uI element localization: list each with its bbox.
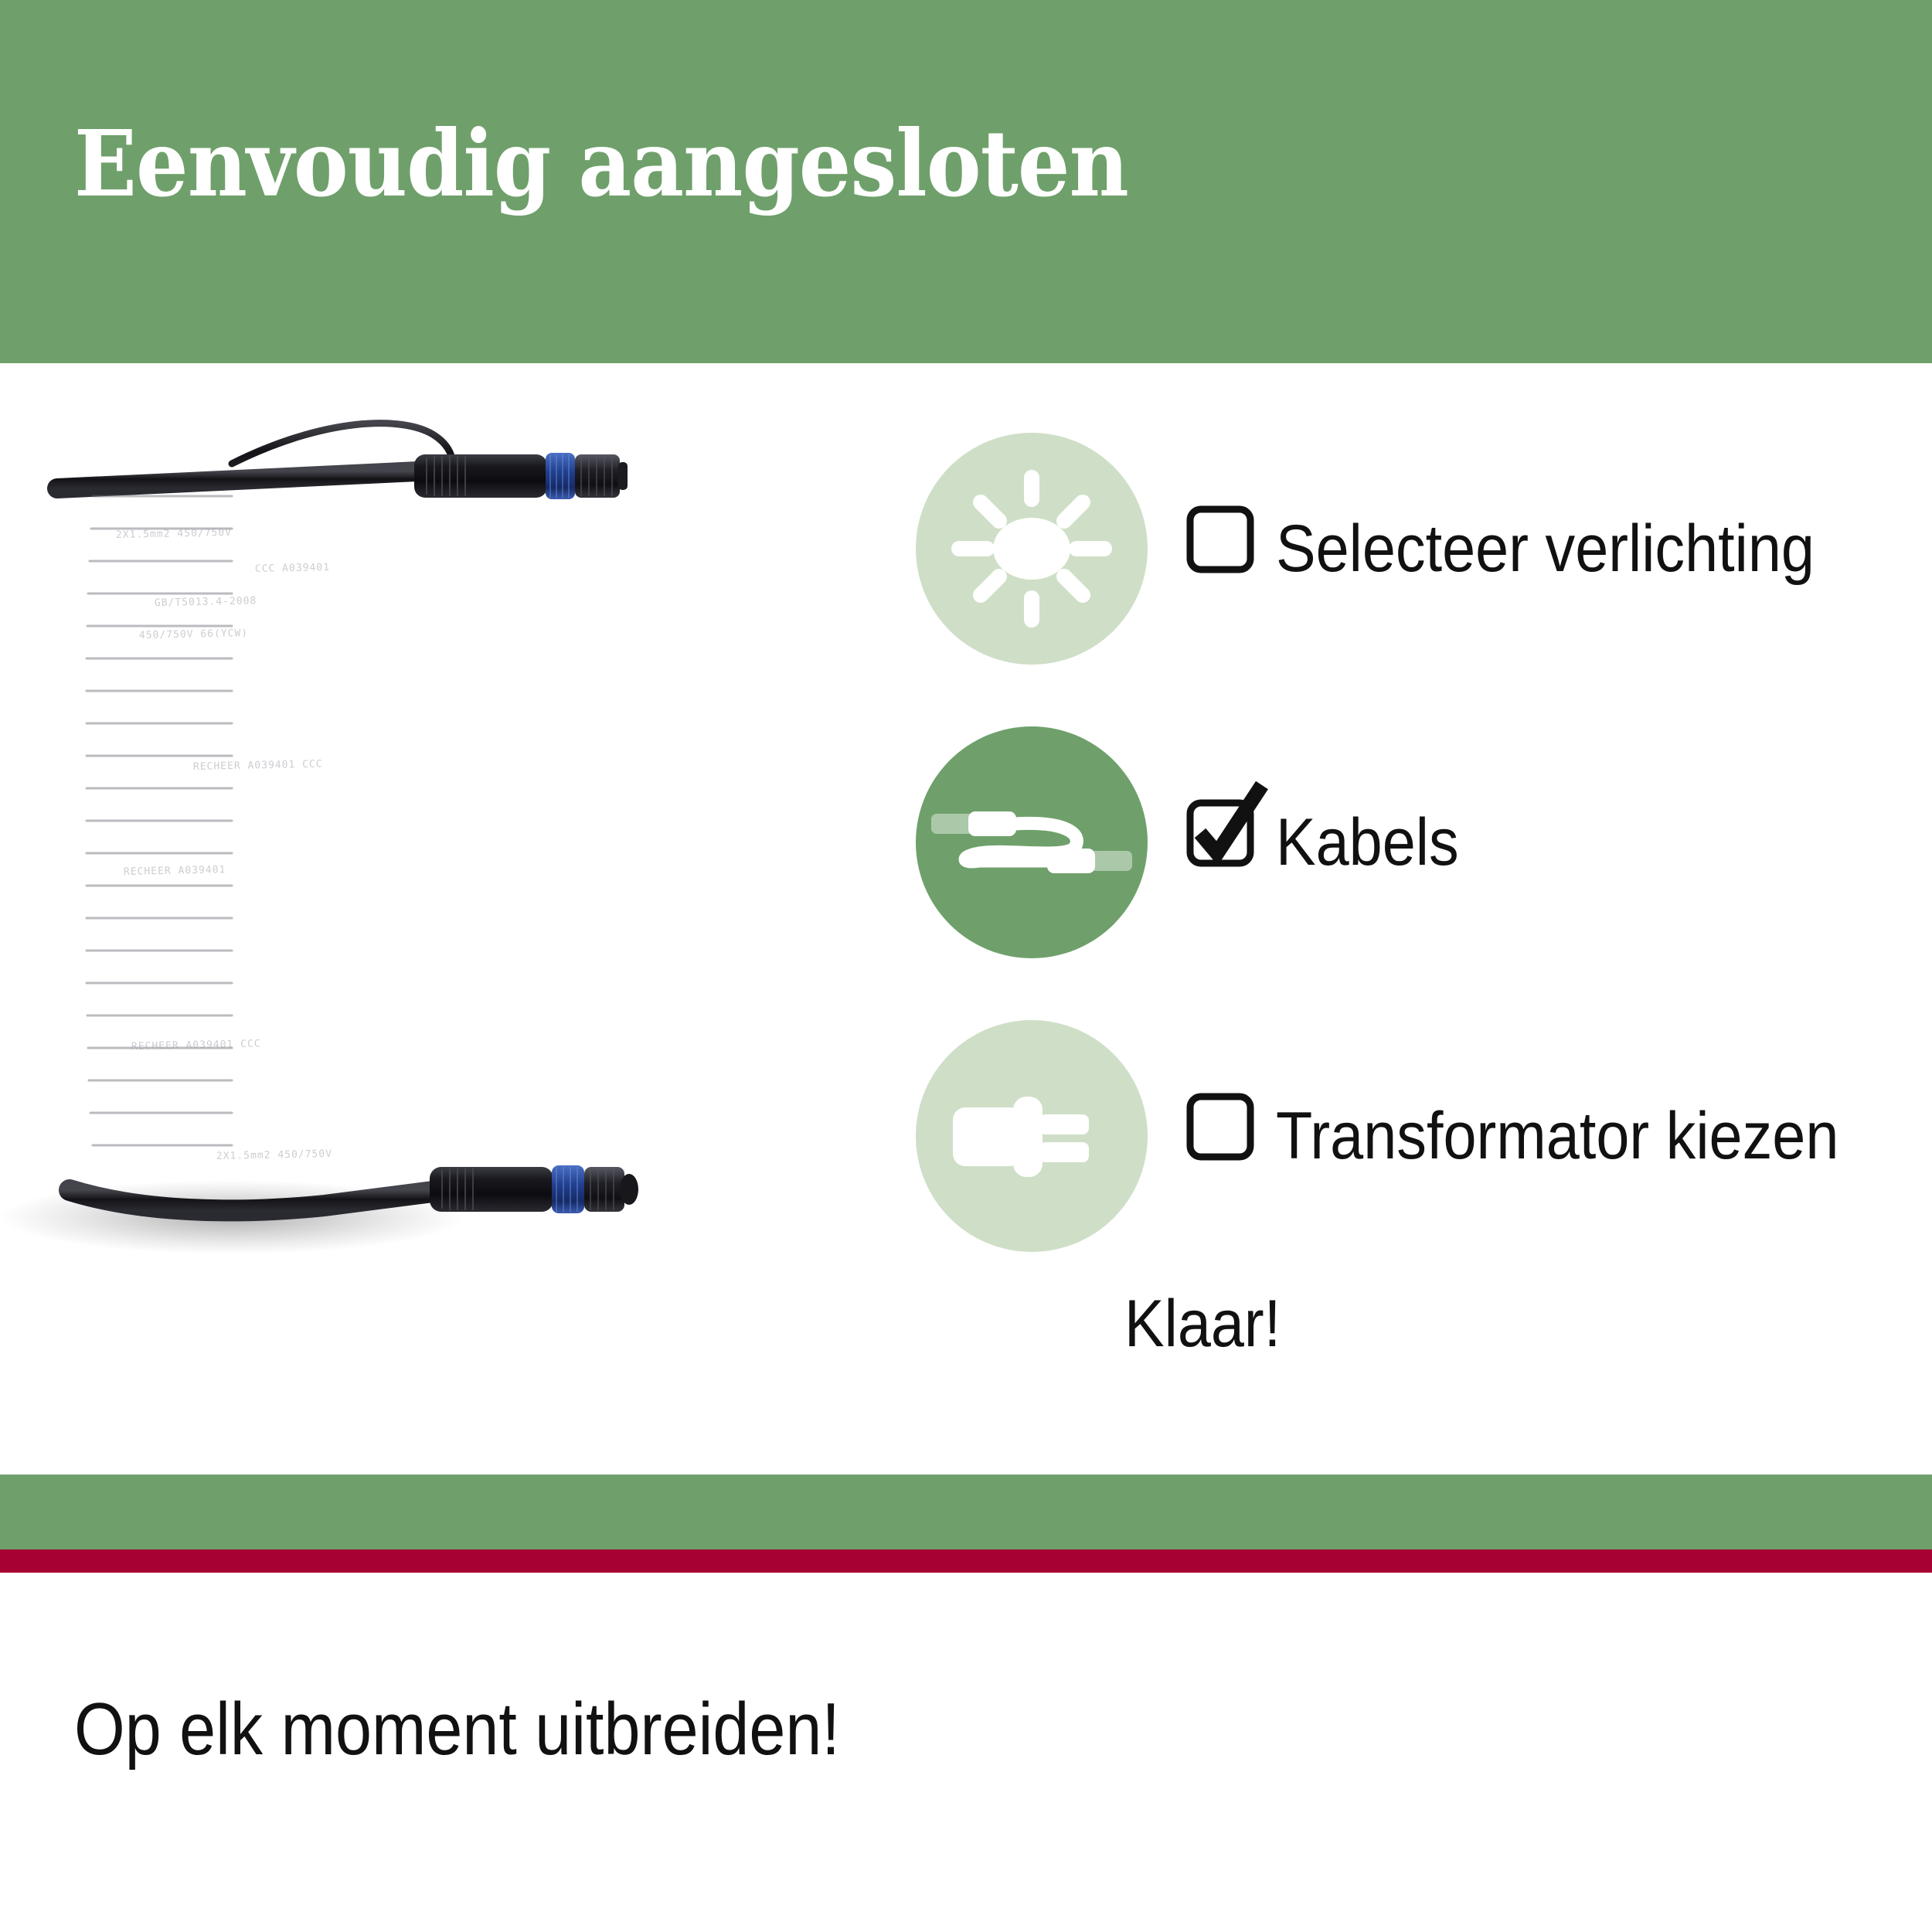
header-banner: Eenvoudig aangesloten	[0, 0, 1932, 363]
checklist-item-transformer[interactable]: Transformator kiezen	[916, 1020, 1932, 1252]
svg-text:CCC A039401: CCC A039401	[255, 562, 330, 575]
checkbox-transformer[interactable]	[1188, 1094, 1248, 1178]
svg-text:450/750V 66(YCW): 450/750V 66(YCW)	[139, 628, 249, 641]
svg-text:2X1.5mm2 450/750V: 2X1.5mm2 450/750V	[116, 527, 232, 541]
footer-tagline: Op elk moment uitbreiden!	[74, 1692, 840, 1767]
svg-text:GB/T5013.4-2008: GB/T5013.4-2008	[155, 595, 257, 609]
checkbox-checked-icon[interactable]	[1182, 777, 1274, 886]
green-divider-bar	[0, 1475, 1932, 1549]
cable-icon-bubble	[916, 726, 1148, 958]
plug-icon	[916, 1020, 1148, 1252]
checklist-done-text: Klaar!	[1124, 1291, 1281, 1357]
checkbox-unchecked-icon[interactable]	[1182, 484, 1274, 592]
product-image-coiled-cable: 2X1.5mm2 450/750V CCC A039401 GB/T5013.4…	[0, 386, 912, 1314]
setup-checklist: Selecteer verlichting	[916, 433, 1932, 1329]
checklist-item-lighting[interactable]: Selecteer verlichting	[916, 433, 1932, 665]
cable-icon	[916, 726, 1148, 958]
checklist-label-lighting: Selecteer verlichting	[1276, 515, 1866, 582]
svg-text:2X1.5mm2 450/750V: 2X1.5mm2 450/750V	[216, 1148, 332, 1162]
page-title: Eenvoudig aangesloten	[74, 116, 1128, 212]
svg-text:RECHEER A039401: RECHEER A039401	[124, 864, 226, 878]
checklist-item-cables[interactable]: Kabels	[916, 726, 1932, 958]
cable-coil: 2X1.5mm2 450/750V CCC A039401 GB/T5013.4…	[54, 496, 410, 1184]
infographic-canvas: Eenvoudig aangesloten	[0, 0, 1932, 1932]
checklist-label-cables: Kabels	[1276, 809, 1866, 876]
checkbox-lighting[interactable]	[1188, 507, 1248, 590]
checkbox-unchecked-icon[interactable]	[1182, 1071, 1274, 1179]
sun-icon	[916, 433, 1148, 665]
plug-icon-bubble	[916, 1020, 1148, 1252]
crimson-divider-bar	[0, 1549, 1932, 1573]
checklist-label-transformer: Transformator kiezen	[1276, 1103, 1866, 1169]
top-connector	[414, 453, 628, 499]
bottom-connector	[430, 1165, 638, 1213]
sun-icon-bubble	[916, 433, 1148, 665]
checkbox-cables[interactable]	[1188, 801, 1248, 884]
